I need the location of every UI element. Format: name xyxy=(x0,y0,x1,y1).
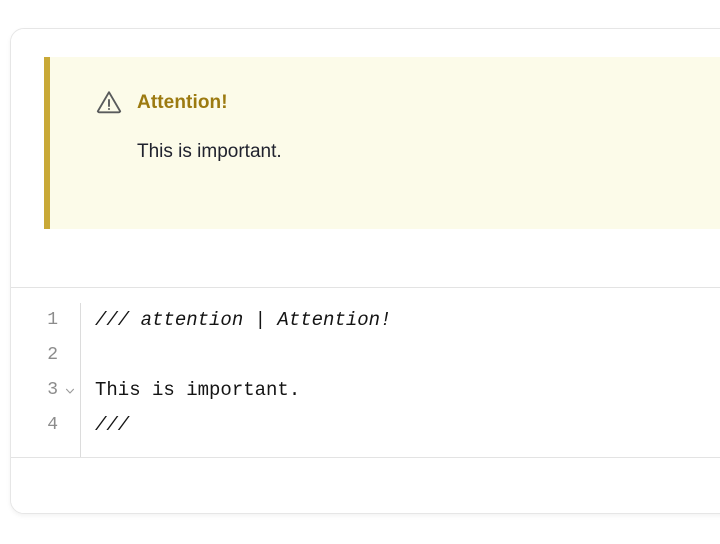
code-text-area[interactable]: /// attention | Attention! This is impor… xyxy=(81,303,720,457)
line-number: 3 xyxy=(11,373,80,408)
line-number-label: 2 xyxy=(47,345,58,365)
code-line[interactable]: /// attention | Attention! xyxy=(95,303,720,338)
line-number: 2 xyxy=(11,338,80,373)
admonition-attention: Attention! This is important. xyxy=(44,57,720,229)
code-line[interactable] xyxy=(95,338,720,373)
code-line[interactable]: This is important. xyxy=(95,373,720,408)
card-footer xyxy=(11,458,720,513)
chevron-down-icon[interactable] xyxy=(64,385,76,397)
line-number: 1 xyxy=(11,303,80,338)
line-number-label: 1 xyxy=(47,310,58,330)
warning-triangle-icon xyxy=(95,89,123,115)
code-line[interactable]: /// xyxy=(95,408,720,443)
rendered-preview-pane: Attention! This is important. xyxy=(11,29,720,288)
admonition-title: Attention! xyxy=(137,93,228,112)
line-number-label: 3 xyxy=(47,380,58,400)
line-number-label: 4 xyxy=(47,415,58,435)
preview-card: Attention! This is important. 1 2 3 4 xyxy=(10,28,720,514)
code-editor-pane: 1 2 3 4 /// attention | Attention! This … xyxy=(11,288,720,458)
line-number: 4 xyxy=(11,408,80,443)
admonition-header: Attention! xyxy=(50,57,720,115)
admonition-body-text: This is important. xyxy=(50,115,720,165)
line-number-gutter: 1 2 3 4 xyxy=(11,303,81,457)
